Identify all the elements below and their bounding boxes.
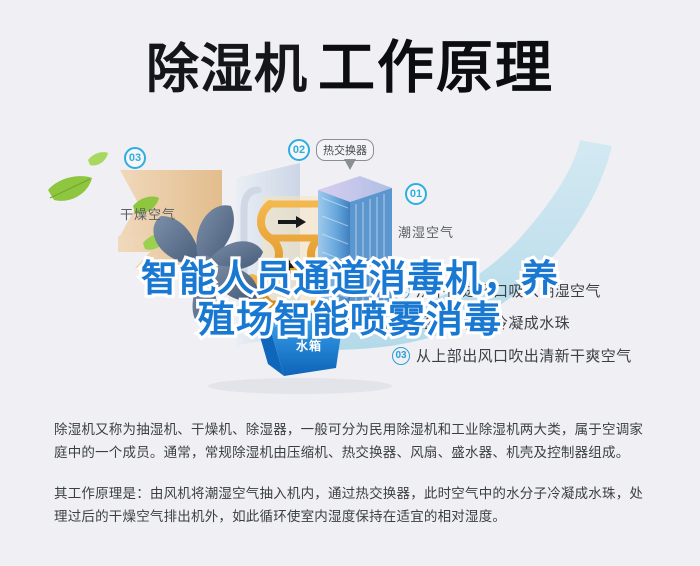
leaf-icon-1 <box>48 176 92 201</box>
body-paragraph-2: 其工作原理是：由风机将潮湿空气抽入机内，通过热交换器，此时空气中的水分子冷凝成水… <box>54 482 654 528</box>
legend-item-03: 03 从上部出风口吹出清新干爽空气 <box>392 345 632 366</box>
legend-text-01: 从下部进风口吸入潮湿空气 <box>416 280 601 301</box>
legend-item-02: 02 经过蒸发器冷凝成水珠 <box>392 312 570 333</box>
label-humid-air: 潮湿空气 <box>398 222 454 241</box>
legend-text-03: 从上部出风口吹出清新干爽空气 <box>416 345 632 366</box>
legend-num-01: 01 <box>392 282 410 300</box>
base-shadow <box>208 378 392 394</box>
label-dry-air: 干燥空气 <box>120 204 176 223</box>
label-water-tank: 水箱 <box>296 337 322 354</box>
marker-01: 01 <box>405 183 427 205</box>
page-title: 除湿机工作原理 <box>0 22 700 104</box>
marker-03: 03 <box>124 147 146 169</box>
legend-text-02: 经过蒸发器冷凝成水珠 <box>416 312 570 333</box>
legend-num-02: 02 <box>392 314 410 332</box>
legend-num-03: 03 <box>392 347 410 365</box>
dehumidifier-infographic-page: 除湿机工作原理 <box>0 0 700 566</box>
page-title-part2: 工作原理 <box>318 36 554 100</box>
body-copy: 除湿机又称为抽湿机、干燥机、除湿器，一般可分为民用除湿机和工业除湿机两大类，属于… <box>54 418 654 528</box>
marker-02: 02 <box>288 139 310 161</box>
page-title-part1: 除湿机 <box>146 40 308 99</box>
callout-heat-exchanger: 热交换器 <box>316 139 374 161</box>
callout-stem-icon <box>344 159 356 170</box>
legend-item-01: 01 从下部进风口吸入潮湿空气 <box>392 280 601 301</box>
leaf-icon-2 <box>88 152 108 165</box>
body-paragraph-1: 除湿机又称为抽湿机、干燥机、除湿器，一般可分为民用除湿机和工业除湿机两大类，属于… <box>54 418 654 464</box>
